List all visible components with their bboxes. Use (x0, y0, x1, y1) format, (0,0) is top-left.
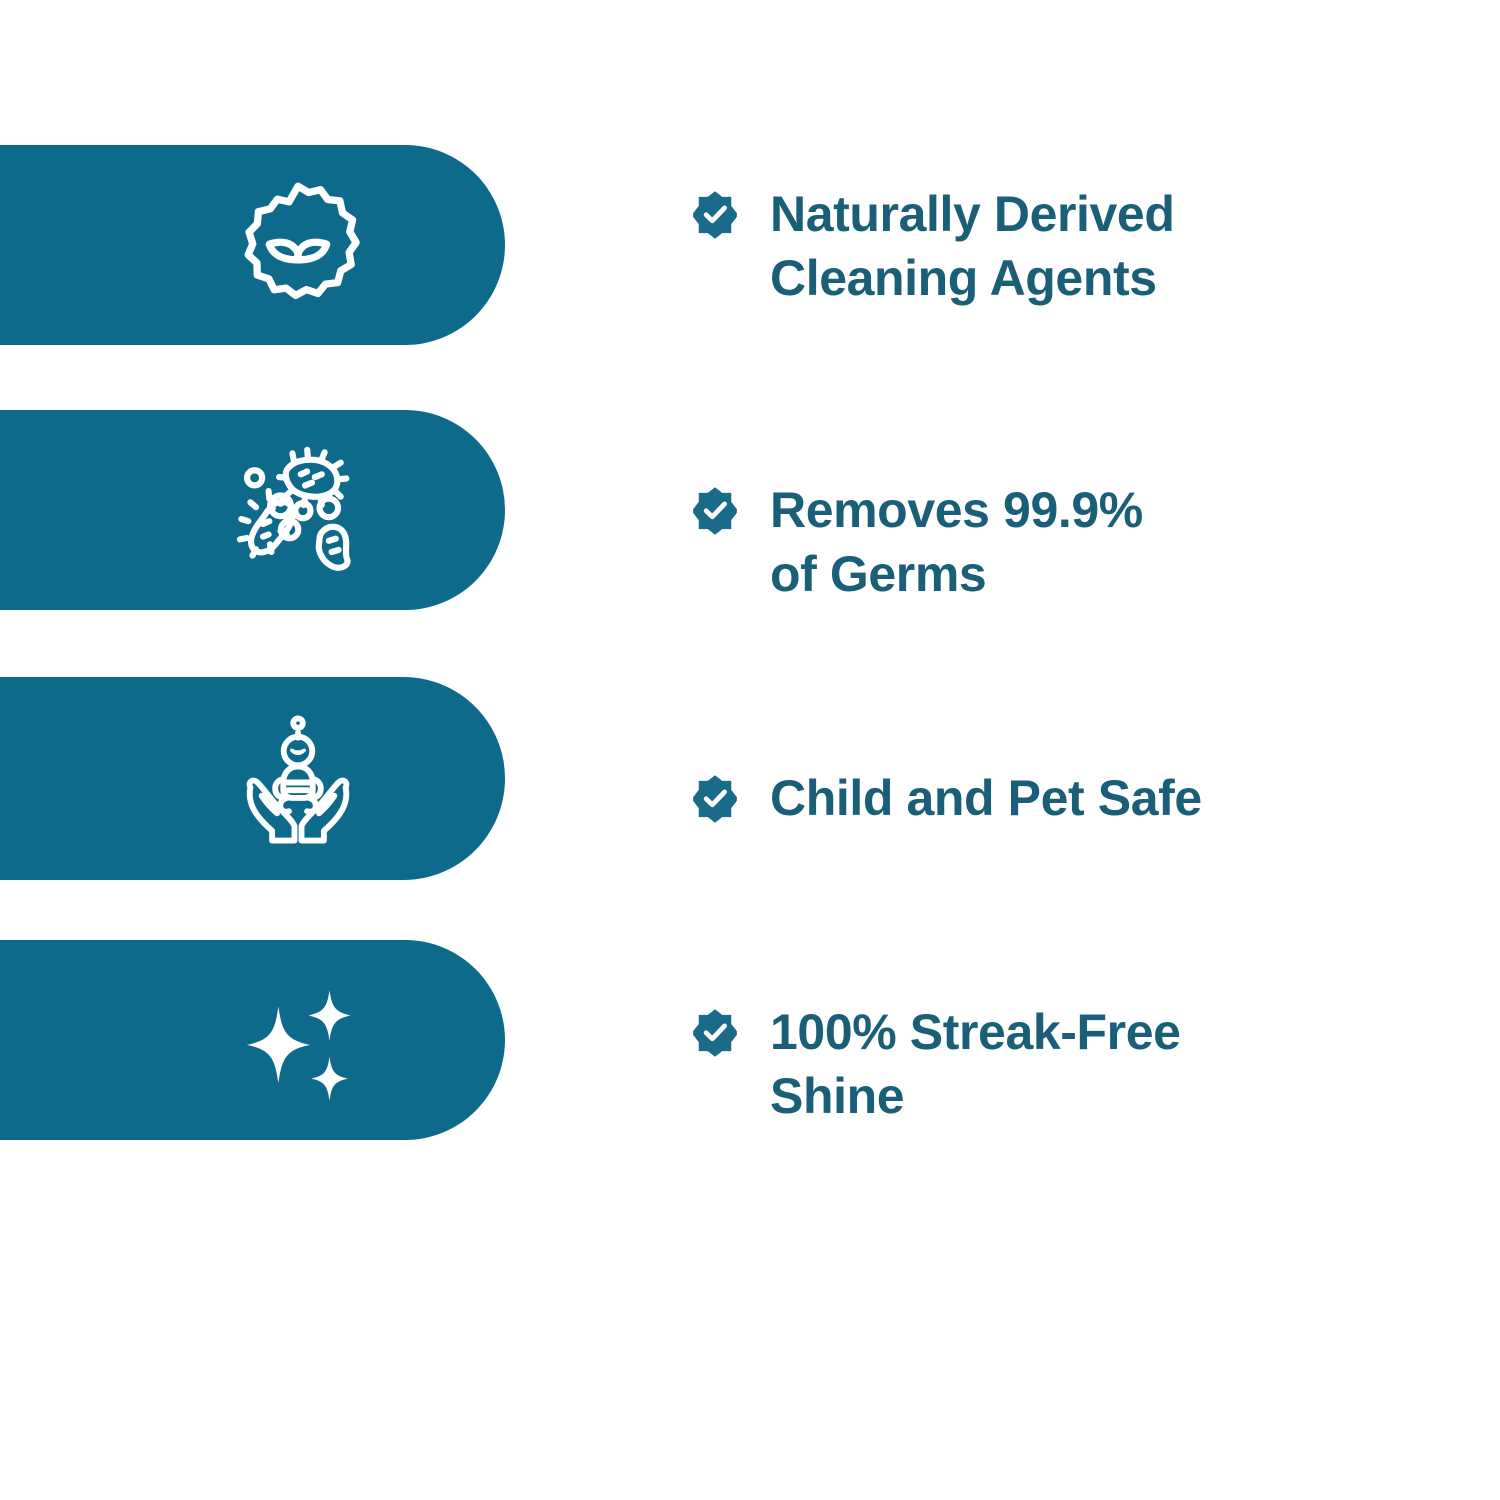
check-badge-icon (690, 774, 740, 824)
sparkles-icon (228, 970, 368, 1110)
germs-icon (228, 440, 368, 580)
check-badge-icon (690, 1008, 740, 1058)
check-badge-icon (690, 486, 740, 536)
benefit-label: Child and Pet Safe (770, 766, 1410, 830)
benefit-row-child-pet-safe: Child and Pet Safe (690, 766, 1410, 830)
benefit-pill-streak-free-shine (0, 940, 505, 1140)
benefit-row-streak-free-shine: 100% Streak-Free Shine (690, 1000, 1410, 1128)
check-badge-icon (690, 190, 740, 240)
baby-in-hands-icon (228, 709, 368, 849)
benefit-pill-removes-germs (0, 410, 505, 610)
benefit-label: 100% Streak-Free Shine (770, 1000, 1410, 1128)
benefit-label: Naturally Derived Cleaning Agents (770, 182, 1410, 310)
benefit-pill-child-pet-safe (0, 677, 505, 880)
infographic-canvas: Naturally Derived Cleaning Agents Remove… (0, 0, 1500, 1500)
benefit-row-removes-germs: Removes 99.9% of Germs (690, 478, 1410, 606)
benefit-label: Removes 99.9% of Germs (770, 478, 1410, 606)
leaf-badge-icon (228, 175, 368, 315)
benefit-pill-naturally-derived (0, 145, 505, 345)
benefit-row-naturally-derived: Naturally Derived Cleaning Agents (690, 182, 1410, 310)
